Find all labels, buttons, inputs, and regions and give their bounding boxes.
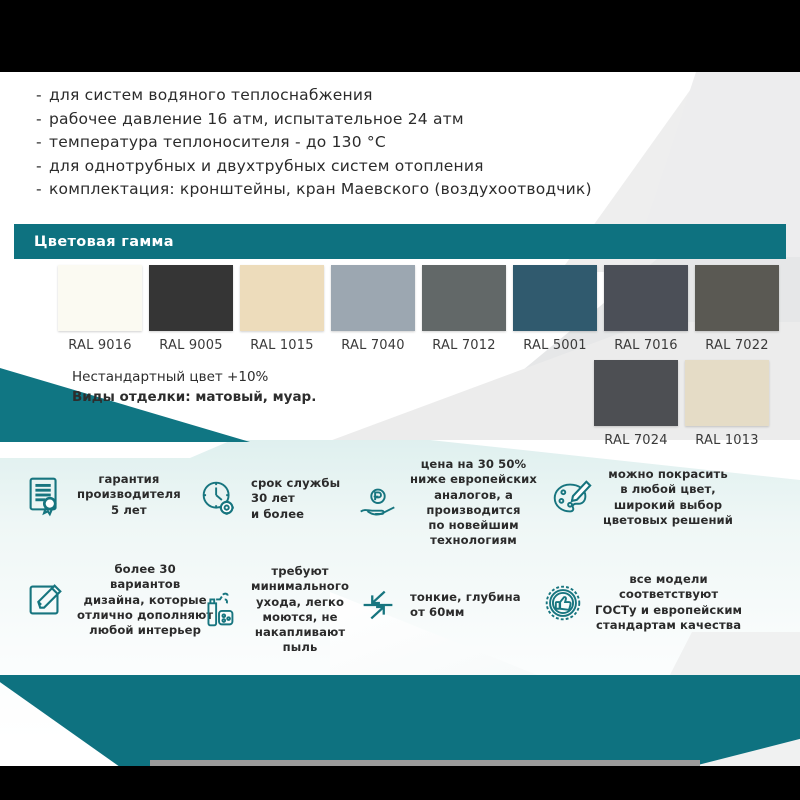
ral-swatch-label: RAL 5001	[513, 338, 597, 353]
ral-swatch-label: RAL 7040	[331, 338, 415, 353]
feature-service-life: срок службы 30 лет и более	[196, 476, 340, 522]
feature-line: любой интерьер	[89, 623, 201, 637]
ral-swatch-chip[interactable]	[240, 265, 324, 331]
ral-swatch-chip[interactable]	[594, 360, 678, 426]
ral-swatch-chip[interactable]	[513, 265, 597, 331]
feature-line: цветовых решений	[603, 513, 733, 527]
feature-line: ГОСТу и европейским	[595, 603, 742, 617]
ral-swatch[interactable]: RAL 9005	[149, 265, 233, 353]
hand-ruble-icon	[355, 480, 401, 526]
finish-note-line: Виды отделки: матовый, муар.	[72, 388, 316, 408]
ral-swatch[interactable]: RAL 7040	[331, 265, 415, 353]
spec-dash: -	[36, 178, 49, 202]
feature-line: минимального	[251, 579, 349, 593]
slide-canvas: - для систем водяного теплоснабжения - р…	[0, 0, 800, 800]
feature-line: по новейшим	[428, 518, 518, 532]
feature-warranty: гарантия производителя 5 лет	[22, 472, 181, 518]
ral-swatch-chip[interactable]	[58, 265, 142, 331]
spec-item: - рабочее давление 16 атм, испытательное…	[36, 108, 636, 132]
spec-text: температура теплоносителя - до 130 °С	[49, 131, 386, 155]
feature-service-life-text: срок службы 30 лет и более	[251, 476, 340, 522]
spec-dash: -	[36, 131, 49, 155]
feature-price-text: цена на 30 50% ниже европейских аналогов…	[410, 457, 537, 549]
feature-depth: тонкие, глубина от 60мм	[355, 582, 521, 628]
feature-warranty-text: гарантия производителя 5 лет	[77, 472, 181, 518]
ral-swatch-chip[interactable]	[149, 265, 233, 331]
ral-swatch[interactable]: RAL 7022	[695, 265, 779, 353]
spec-dash: -	[36, 84, 49, 108]
spec-text: комплектация: кронштейны, кран Маевского…	[49, 178, 592, 202]
clock-gear-icon	[196, 476, 242, 522]
color-gamma-banner: Цветовая гамма	[14, 224, 786, 259]
ral-swatch[interactable]: RAL 9016	[58, 265, 142, 353]
spec-item: - для систем водяного теплоснабжения	[36, 84, 636, 108]
feature-line: технологиям	[430, 533, 517, 547]
feature-line: и более	[251, 507, 304, 521]
feature-design: более 30 вариантов дизайна, которые отли…	[22, 562, 213, 638]
background-grey-bottom-right	[620, 632, 800, 766]
footer-grey-strip	[150, 760, 700, 766]
feature-line: требуют	[271, 564, 328, 578]
feature-line: аналогов, а	[434, 488, 513, 502]
feature-quality-text: все модели соответствуют ГОСТу и европей…	[595, 572, 742, 633]
feature-line: отлично дополняют	[77, 608, 213, 622]
feature-maintenance: требуют минимального ухода, легко моются…	[196, 564, 349, 656]
ral-swatch-chip[interactable]	[422, 265, 506, 331]
spec-dash: -	[36, 108, 49, 132]
feature-line: широкий выбор	[614, 498, 722, 512]
feature-price: цена на 30 50% ниже европейских аналогов…	[355, 457, 537, 549]
ral-swatch-chip[interactable]	[331, 265, 415, 331]
color-gamma-title: Цветовая гамма	[14, 234, 174, 250]
ral-swatch-label: RAL 7012	[422, 338, 506, 353]
spec-item: - температура теплоносителя - до 130 °С	[36, 131, 636, 155]
ral-swatch[interactable]: RAL 5001	[513, 265, 597, 353]
feature-line: можно покрасить	[608, 467, 728, 481]
ral-swatch-label: RAL 7024	[594, 433, 678, 448]
feature-paint: можно покрасить в любой цвет, широкий вы…	[548, 467, 733, 528]
ral-swatch-label: RAL 9016	[58, 338, 142, 353]
ral-swatch[interactable]: RAL 1015	[240, 265, 324, 353]
feature-line: от 60мм	[410, 605, 465, 619]
ral-swatch-label: RAL 7016	[604, 338, 688, 353]
ral-swatch[interactable]: RAL 7016	[604, 265, 688, 353]
spec-text: рабочее давление 16 атм, испытательное 2…	[49, 108, 464, 132]
feature-quality: все модели соответствуют ГОСТу и европей…	[540, 572, 742, 633]
thumbs-up-badge-icon	[540, 580, 586, 626]
pencil-design-icon	[22, 577, 68, 623]
ral-swatch-label: RAL 1013	[685, 433, 769, 448]
feature-depth-text: тонкие, глубина от 60мм	[410, 590, 521, 621]
finish-note-line: Нестандартный цвет +10%	[72, 368, 316, 388]
slide-content: - для систем водяного теплоснабжения - р…	[0, 72, 800, 766]
specification-list: - для систем водяного теплоснабжения - р…	[36, 84, 636, 202]
ral-swatch-row-secondary: RAL 7024RAL 1013	[594, 360, 769, 448]
ral-swatch-chip[interactable]	[685, 360, 769, 426]
depth-arrows-icon	[355, 582, 401, 628]
feature-line: производится	[426, 503, 520, 517]
spec-item: - комплектация: кронштейны, кран Маевско…	[36, 178, 636, 202]
feature-line: дизайна, которые	[84, 593, 207, 607]
certificate-icon	[22, 472, 68, 518]
feature-line: ниже европейских	[410, 472, 537, 486]
ral-swatch-chip[interactable]	[604, 265, 688, 331]
feature-line: все модели	[629, 572, 707, 586]
ral-swatch-label: RAL 1015	[240, 338, 324, 353]
footer-teal-band	[0, 675, 800, 766]
spec-dash: -	[36, 155, 49, 179]
finish-note: Нестандартный цвет +10% Виды отделки: ма…	[72, 368, 316, 408]
feature-line: тонкие, глубина	[410, 590, 521, 604]
ral-swatch-row-primary: RAL 9016RAL 9005RAL 1015RAL 7040RAL 7012…	[58, 265, 779, 353]
feature-design-text: более 30 вариантов дизайна, которые отли…	[77, 562, 213, 638]
spec-item: - для однотрубных и двухтрубных систем о…	[36, 155, 636, 179]
feature-line: вариантов	[110, 577, 180, 591]
ral-swatch-label: RAL 7022	[695, 338, 779, 353]
spray-sponge-icon	[196, 587, 242, 633]
feature-line: срок службы	[251, 476, 340, 490]
feature-line: цена на 30 50%	[421, 457, 527, 471]
feature-line: 5 лет	[111, 503, 147, 517]
spec-text: для систем водяного теплоснабжения	[49, 84, 373, 108]
feature-line: стандартам качества	[596, 618, 741, 632]
ral-swatch[interactable]: RAL 1013	[685, 360, 769, 448]
palette-brush-icon	[548, 475, 594, 521]
feature-line: ухода, легко	[256, 595, 344, 609]
feature-line: соответствуют	[619, 587, 718, 601]
feature-line: более 30	[114, 562, 175, 576]
feature-line: 30 лет	[251, 491, 295, 505]
feature-paint-text: можно покрасить в любой цвет, широкий вы…	[603, 467, 733, 528]
feature-line: производителя	[77, 487, 181, 501]
ral-swatch-label: RAL 9005	[149, 338, 233, 353]
feature-line: в любой цвет,	[620, 482, 716, 496]
spec-text: для однотрубных и двухтрубных систем ото…	[49, 155, 484, 179]
ral-swatch-chip[interactable]	[695, 265, 779, 331]
feature-maintenance-text: требуют минимального ухода, легко моются…	[251, 564, 349, 656]
feature-line: моются, не	[262, 610, 337, 624]
ral-swatch[interactable]: RAL 7024	[594, 360, 678, 448]
feature-line: пыль	[283, 640, 318, 654]
feature-line: накапливают	[255, 625, 345, 639]
feature-line: гарантия	[98, 472, 159, 486]
ral-swatch[interactable]: RAL 7012	[422, 265, 506, 353]
